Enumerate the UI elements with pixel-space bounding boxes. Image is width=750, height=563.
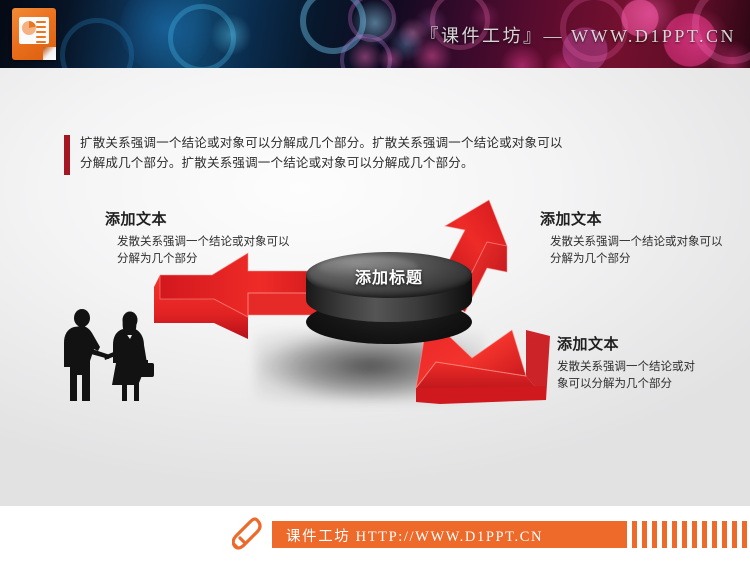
text-block-line: 象可以分解为几个部分 [557,376,750,393]
text-block-line: 分解为几个部分 [117,251,335,268]
text-block-left: 添加文本 发散关系强调一个结论或对象可以 分解为几个部分 [105,208,335,268]
slide-canvas: 『课件工坊』— WWW.D1PPT.CN 扩散关系强调一个结论或对象可以分解成几… [0,0,750,563]
footer-brand-bar: 课件工坊 HTTP://WWW.D1PPT.CN [272,521,627,548]
text-block-right-top: 添加文本 发散关系强调一个结论或对象可以 分解为几个部分 [540,208,750,268]
handshake-silhouette [52,305,162,405]
text-block-right-bottom: 添加文本 发散关系强调一个结论或对 象可以分解为几个部分 [557,333,750,393]
text-block-line: 发散关系强调一个结论或对象可以 [550,234,750,251]
footer-brand-text: 课件工坊 HTTP://WWW.D1PPT.CN [286,525,543,546]
text-block-title: 添加文本 [557,333,750,354]
text-block-body: 发散关系强调一个结论或对 象可以分解为几个部分 [557,359,750,393]
pen-icon [232,516,266,552]
text-block-title: 添加文本 [540,208,750,229]
text-block-body: 发散关系强调一个结论或对象可以 分解为几个部分 [105,234,335,268]
text-block-line: 分解为几个部分 [550,251,750,268]
footer-stripes [632,521,750,548]
text-block-title: 添加文本 [105,208,335,229]
text-block-line: 发散关系强调一个结论或对象可以 [117,234,335,251]
text-block-line: 发散关系强调一个结论或对 [557,359,750,376]
text-block-body: 发散关系强调一个结论或对象可以 分解为几个部分 [540,234,750,268]
footer-divider [0,505,750,506]
